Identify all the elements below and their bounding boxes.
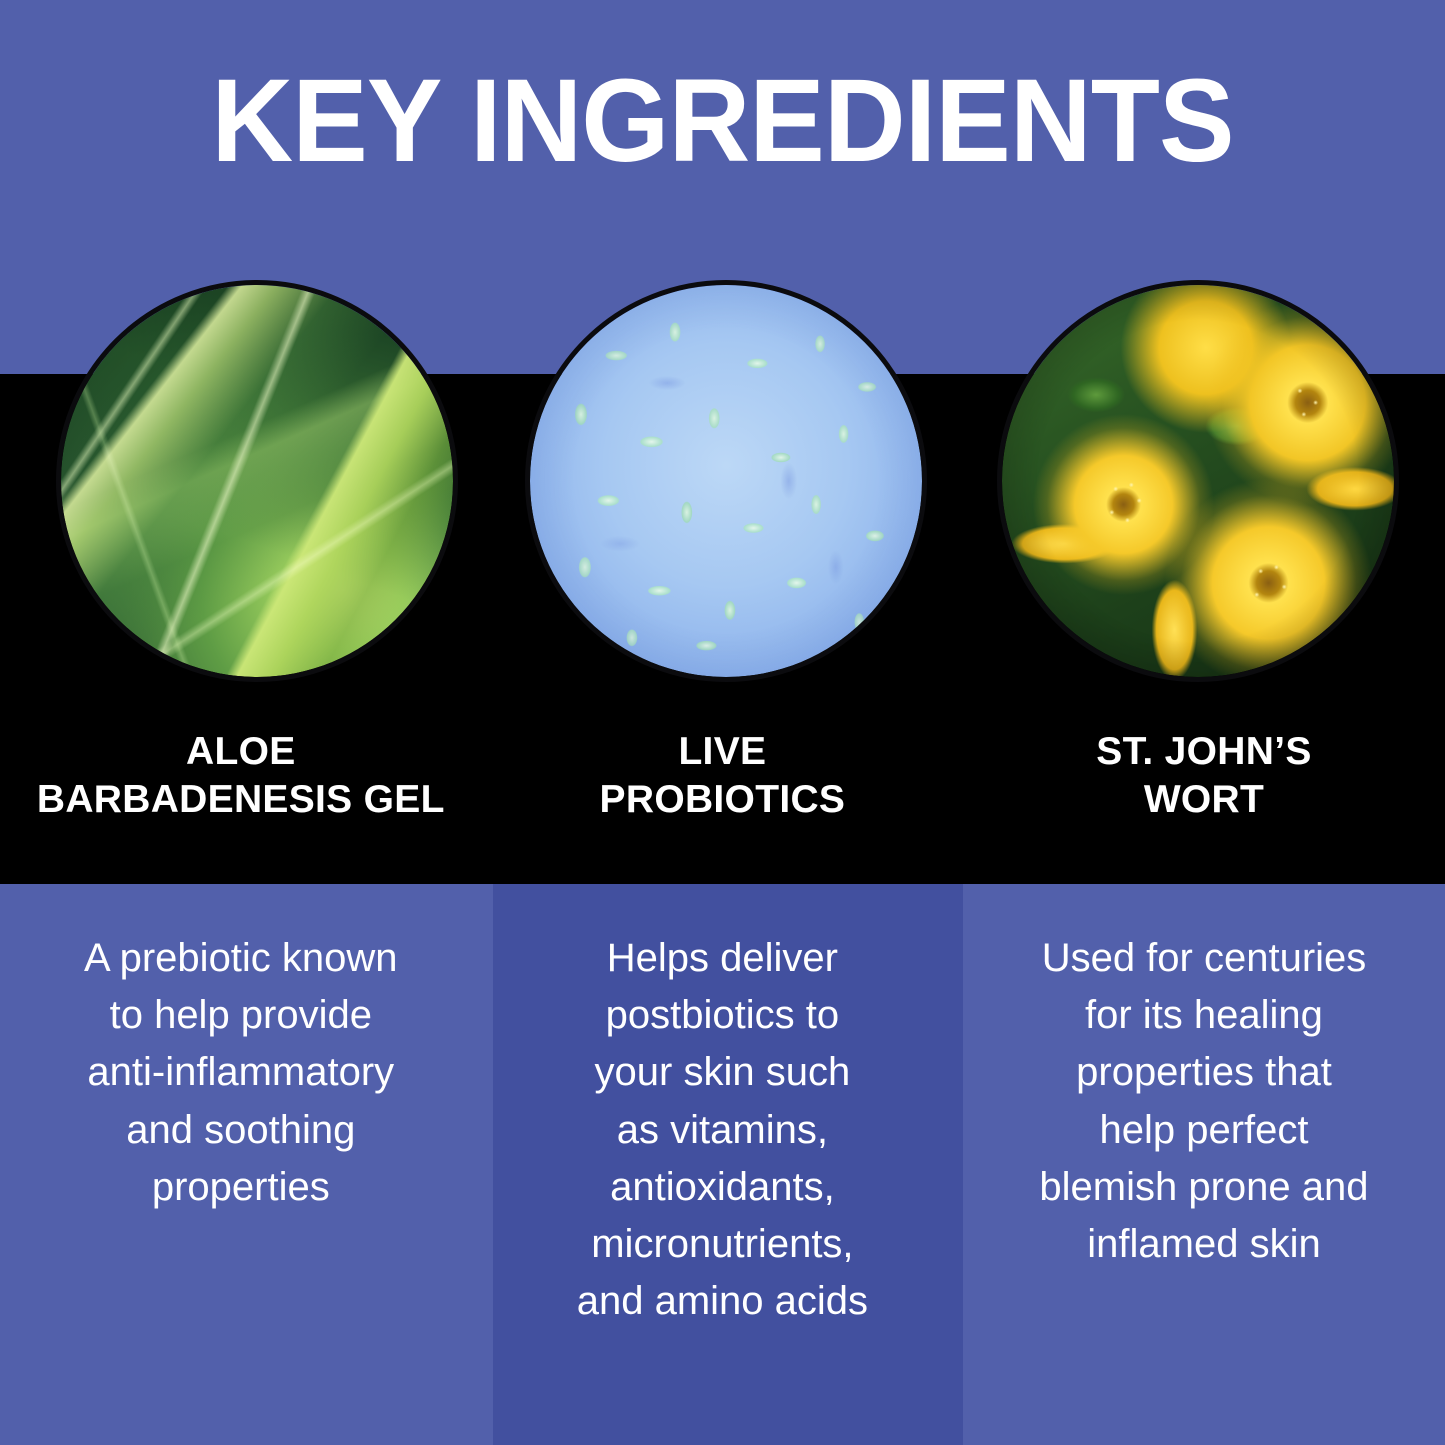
ingredient-names-row: ALOE BARBADENESIS GEL LIVE PROBIOTICS ST… (0, 728, 1445, 823)
st-johns-wort-flowers-photo (1002, 285, 1394, 677)
ingredient-name-st-johns-wort: ST. JOHN’S WORT (963, 728, 1445, 823)
ingredient-name-aloe: ALOE BARBADENESIS GEL (0, 728, 482, 823)
ingredient-name-probiotics: LIVE PROBIOTICS (482, 728, 964, 823)
key-ingredients-infographic: KEY INGREDIENTS ALOE BARBADENESIS GEL LI… (0, 0, 1445, 1445)
ingredient-image-probiotics (525, 280, 927, 682)
ingredient-image-aloe (56, 280, 458, 682)
ingredient-description-probiotics: Helps deliver postbiotics to your skin s… (482, 930, 964, 1330)
probiotic-bacteria-microscopy-photo (530, 285, 922, 677)
ingredient-descriptions-row: A prebiotic known to help provide anti-i… (0, 930, 1445, 1330)
aloe-leaves-photo (61, 285, 453, 677)
ingredient-description-aloe: A prebiotic known to help provide anti-i… (0, 930, 482, 1330)
ingredient-image-st-johns-wort (997, 280, 1399, 682)
page-title: KEY INGREDIENTS (29, 62, 1416, 180)
ingredient-description-st-johns-wort: Used for centuries for its healing prope… (963, 930, 1445, 1330)
